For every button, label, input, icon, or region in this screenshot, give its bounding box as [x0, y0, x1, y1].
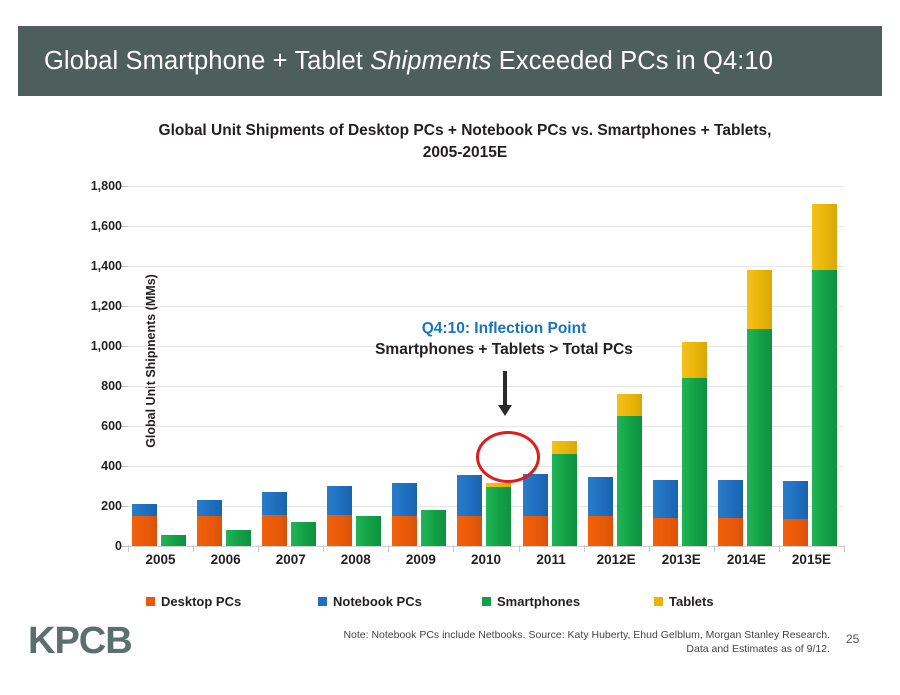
annotation-line1: Q4:10: Inflection Point: [318, 318, 690, 339]
y-tick-mark: [121, 546, 128, 547]
bar-segment: [783, 519, 808, 546]
footnote-line2: Data and Estimates as of 9/12.: [300, 642, 830, 656]
bar-segment: [132, 516, 157, 546]
x-tick-mark: [714, 545, 715, 552]
bar-segment: [783, 481, 808, 519]
bar-segment: [226, 530, 251, 546]
bar-segment: [812, 204, 837, 270]
x-tick-mark: [128, 545, 129, 552]
bar-group: [258, 186, 323, 546]
y-tick-mark: [121, 186, 128, 187]
legend-swatch-icon: [146, 597, 155, 606]
bar-segment: [291, 522, 316, 546]
bar-segment: [356, 516, 381, 546]
y-tick-mark: [121, 466, 128, 467]
legend-item-tablets[interactable]: Tablets: [654, 594, 714, 609]
bar-segment: [457, 516, 482, 546]
legend-item-desktop-pcs[interactable]: Desktop PCs: [146, 594, 241, 609]
x-tick-mark: [779, 545, 780, 552]
y-tick-mark: [121, 306, 128, 307]
bar-group: [388, 186, 453, 546]
bar-segment: [392, 483, 417, 516]
x-tick-label: 2010: [453, 552, 518, 567]
y-tick-mark: [121, 346, 128, 347]
page-number: 25: [846, 632, 859, 646]
bar-segment: [523, 516, 548, 546]
y-tick-label: 1,000: [32, 339, 122, 353]
y-tick-label: 200: [32, 499, 122, 513]
y-tick-mark: [121, 386, 128, 387]
y-tick-mark: [121, 426, 128, 427]
footnote-line1: Note: Notebook PCs include Netbooks. Sou…: [300, 628, 830, 642]
x-tick-label: 2007: [258, 552, 323, 567]
legend-swatch-icon: [654, 597, 663, 606]
y-tick-label: 1,400: [32, 259, 122, 273]
x-tick-label: 2009: [388, 552, 453, 567]
annotation-line2: Smartphones + Tablets > Total PCs: [318, 339, 690, 360]
bar-group: [519, 186, 584, 546]
x-tick-label: 2008: [323, 552, 388, 567]
bar-segment: [552, 454, 577, 546]
chart-footnote: Note: Notebook PCs include Netbooks. Sou…: [300, 628, 830, 656]
legend-item-smartphones[interactable]: Smartphones: [482, 594, 580, 609]
bar-segment: [262, 515, 287, 546]
x-tick-label: 2006: [193, 552, 258, 567]
bar-segment: [747, 270, 772, 329]
y-tick-mark: [121, 226, 128, 227]
y-tick-label: 1,800: [32, 179, 122, 193]
kpcb-logo: KPCB: [28, 620, 132, 663]
y-tick-mark: [121, 506, 128, 507]
bar-segment: [327, 515, 352, 546]
y-tick-mark: [121, 266, 128, 267]
bar-segment: [421, 510, 446, 546]
bar-segment: [617, 416, 642, 546]
y-tick-label: 1,600: [32, 219, 122, 233]
bar-segment: [718, 480, 743, 518]
x-tick-mark: [844, 545, 845, 552]
bar-segment: [747, 329, 772, 546]
legend-label: Notebook PCs: [333, 594, 422, 609]
legend-item-notebook-pcs[interactable]: Notebook PCs: [318, 594, 422, 609]
bar-segment: [457, 475, 482, 516]
x-axis-labels: 20052006200720082009201020112012E2013E20…: [128, 552, 844, 578]
x-tick-label: 2012E: [584, 552, 649, 567]
legend-swatch-icon: [318, 597, 327, 606]
x-tick-mark: [649, 545, 650, 552]
bar-segment: [161, 535, 186, 546]
bar-segment: [132, 504, 157, 516]
bar-segment: [327, 486, 352, 514]
inflection-annotation: Q4:10: Inflection Point Smartphones + Ta…: [318, 318, 690, 360]
bar-segment: [653, 518, 678, 546]
y-tick-label: 800: [32, 379, 122, 393]
bar-groups: [128, 186, 844, 546]
bar-segment: [588, 516, 613, 546]
x-tick-label: 2013E: [649, 552, 714, 567]
bar-segment: [486, 483, 511, 487]
bar-group: [584, 186, 649, 546]
bar-segment: [718, 518, 743, 546]
legend-label: Smartphones: [497, 594, 580, 609]
x-tick-label: 2015E: [779, 552, 844, 567]
bar-group: [714, 186, 779, 546]
bar-segment: [197, 500, 222, 516]
x-tick-mark: [519, 545, 520, 552]
x-tick-mark: [258, 545, 259, 552]
bar-segment: [262, 492, 287, 515]
bar-segment: [392, 516, 417, 546]
bar-segment: [653, 480, 678, 518]
inflection-highlight-circle: [476, 431, 540, 483]
y-tick-label: 0: [32, 539, 122, 553]
slide: Global Smartphone + Tablet Shipments Exc…: [0, 0, 900, 695]
x-tick-mark: [584, 545, 585, 552]
bar-segment: [523, 474, 548, 516]
bar-group: [453, 186, 518, 546]
bar-segment: [588, 477, 613, 516]
bar-group: [193, 186, 258, 546]
x-tick-label: 2014E: [714, 552, 779, 567]
bar-segment: [812, 270, 837, 546]
bar-group: [323, 186, 388, 546]
y-tick-label: 400: [32, 459, 122, 473]
bar-group: [779, 186, 844, 546]
y-tick-label: 1,200: [32, 299, 122, 313]
bar-segment: [486, 487, 511, 546]
bar-segment: [552, 441, 577, 455]
bar-group: [128, 186, 193, 546]
annotation-arrow-icon: [503, 371, 507, 405]
y-tick-label: 600: [32, 419, 122, 433]
bar-segment: [197, 516, 222, 546]
x-tick-label: 2011: [519, 552, 584, 567]
x-tick-mark: [323, 545, 324, 552]
x-tick-mark: [388, 545, 389, 552]
bar-segment: [617, 394, 642, 416]
x-tick-mark: [453, 545, 454, 552]
gridline: [128, 546, 844, 547]
x-tick-label: 2005: [128, 552, 193, 567]
bar-group: [649, 186, 714, 546]
chart-legend: Desktop PCsNotebook PCsSmartphonesTablet…: [146, 594, 796, 614]
legend-swatch-icon: [482, 597, 491, 606]
legend-label: Tablets: [669, 594, 714, 609]
legend-label: Desktop PCs: [161, 594, 241, 609]
plot-area: Global Unit Shipments (MMs) 020040060080…: [128, 186, 844, 546]
x-tick-mark: [193, 545, 194, 552]
bar-segment: [682, 378, 707, 546]
